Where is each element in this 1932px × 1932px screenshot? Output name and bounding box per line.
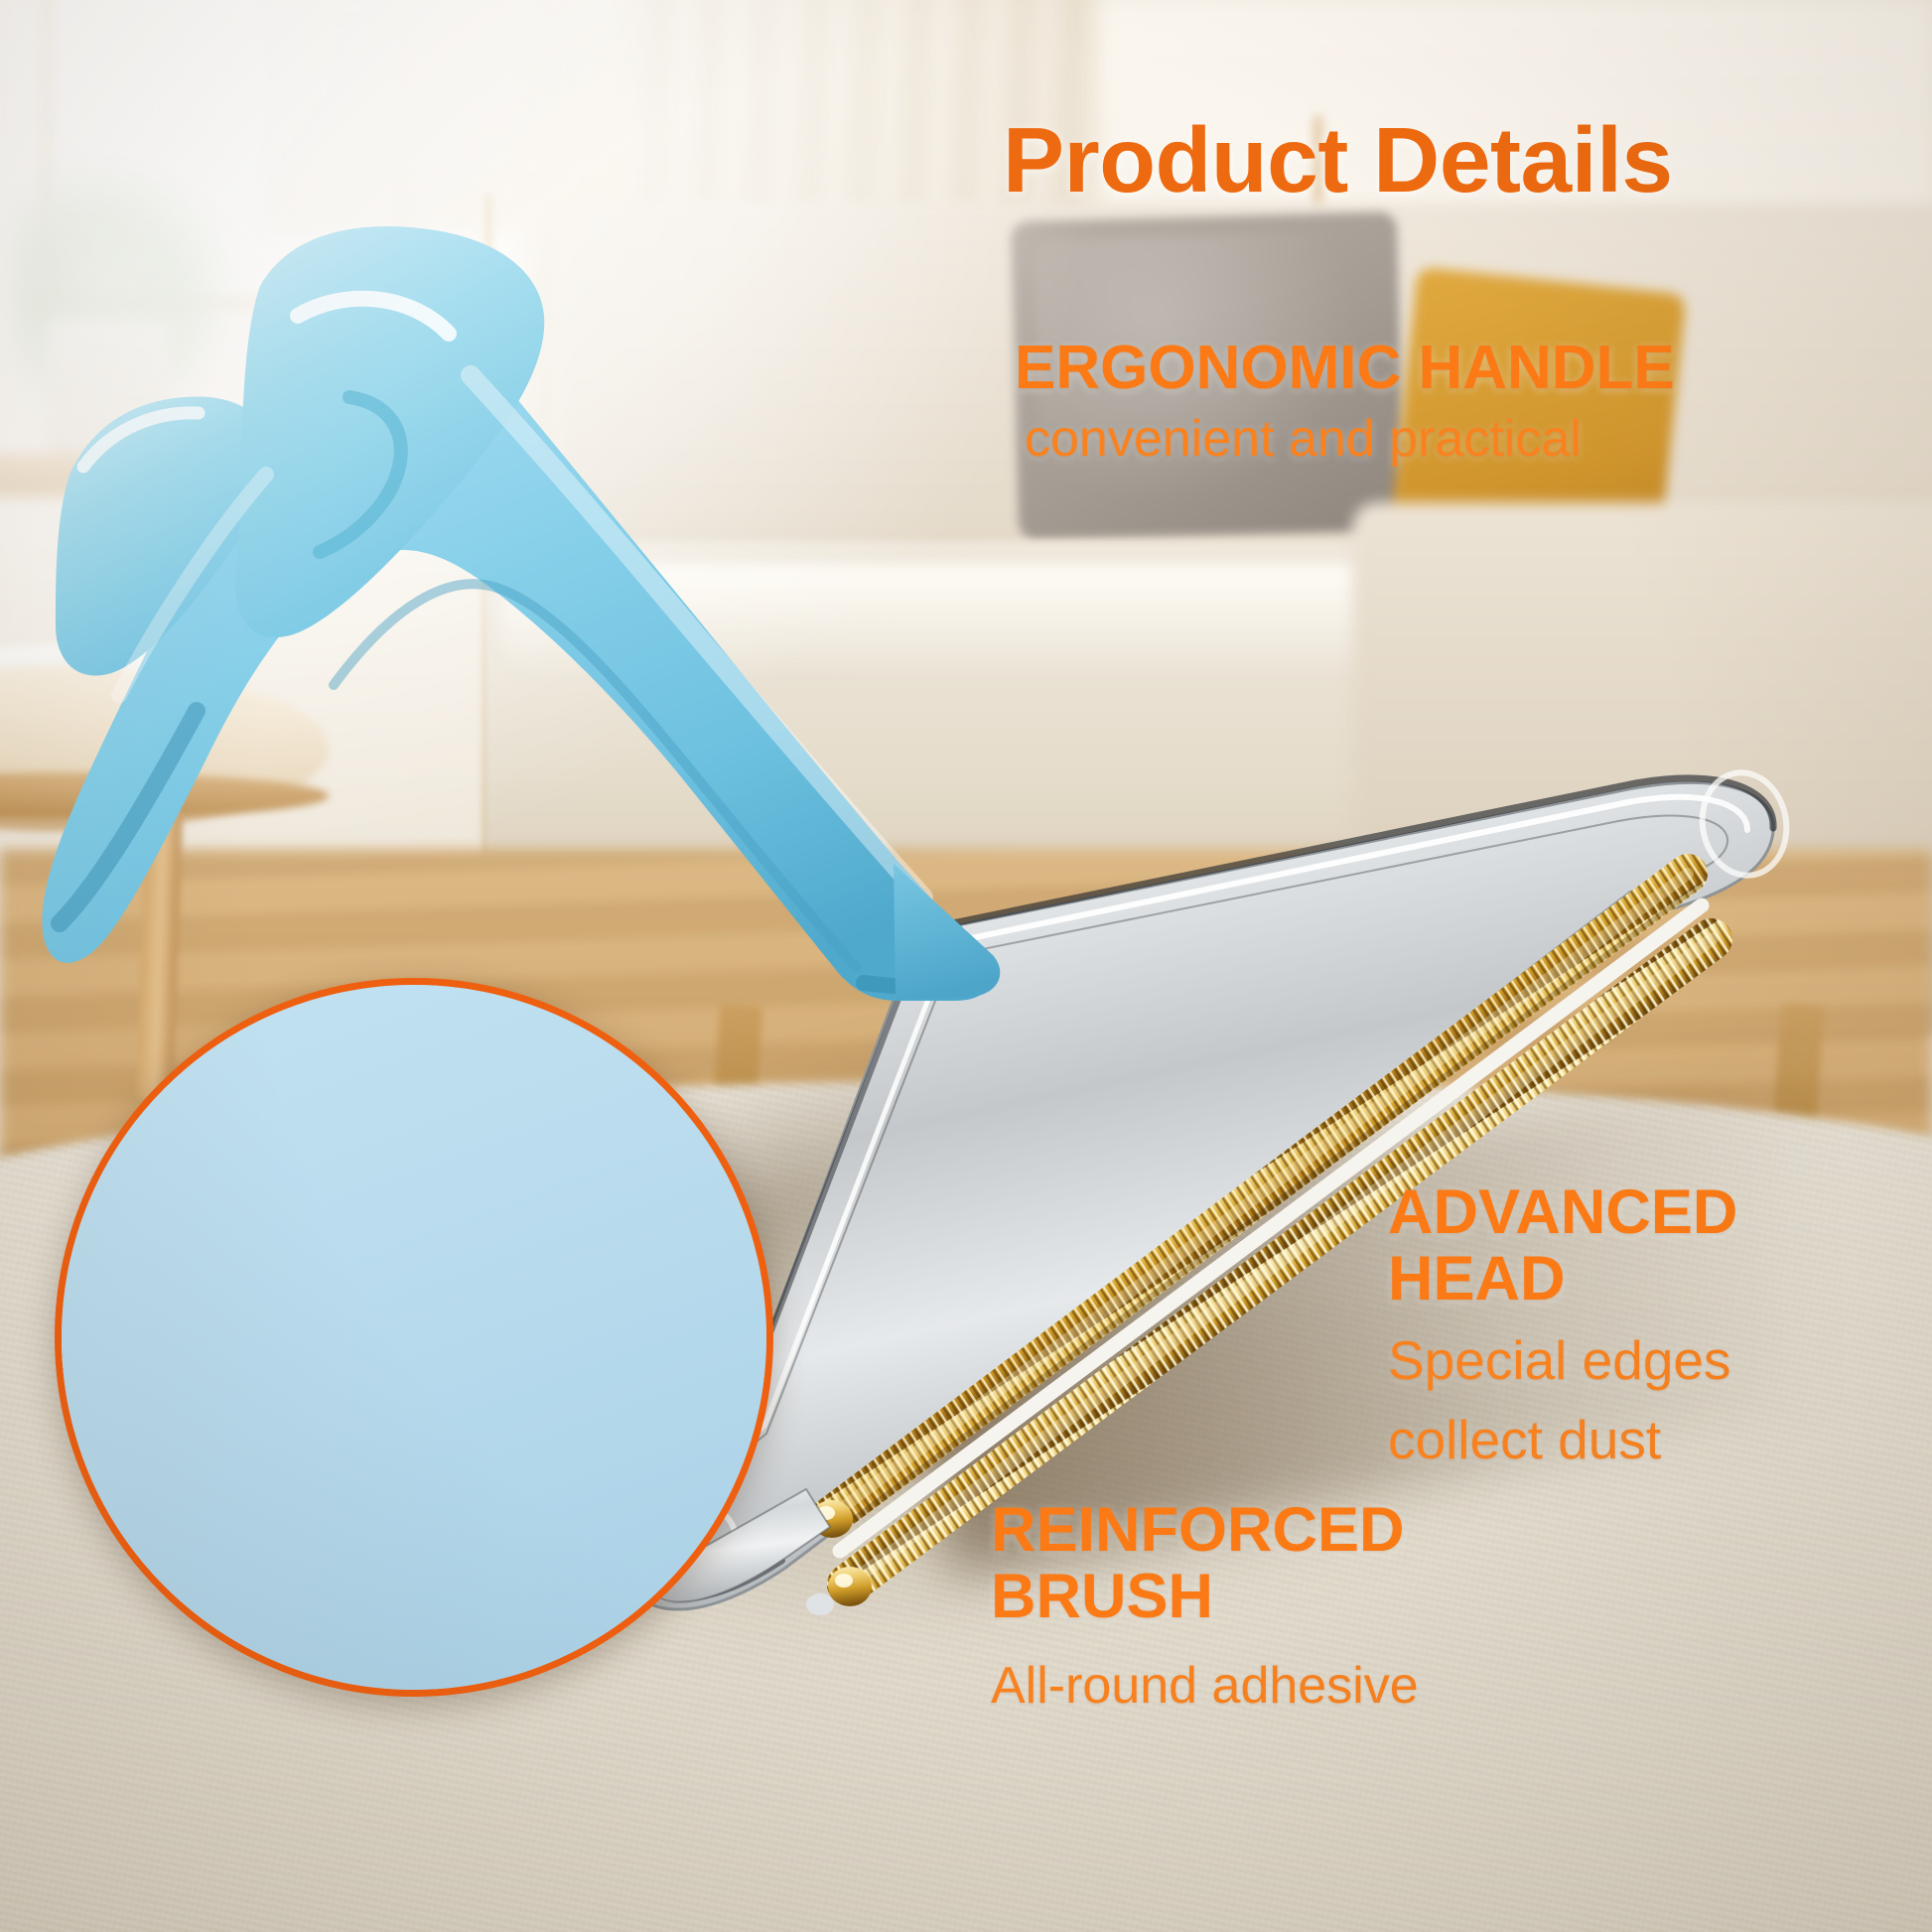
feature-heading-line1: REINFORCED	[991, 1497, 1606, 1564]
product-photo	[0, 0, 1932, 1932]
feature-subtitle: convenient and practical	[1025, 409, 1888, 470]
feature-heading-line2: BRUSH	[991, 1564, 1606, 1630]
feature-reinforced-brush: REINFORCED BRUSH All-round adhesive	[991, 1497, 1606, 1717]
feature-ergonomic-handle: ERGONOMIC HANDLE convenient and practica…	[1015, 336, 1888, 470]
page-title: Product Details	[1003, 114, 1896, 207]
brush-tip-closeup-inset	[55, 978, 773, 1697]
feature-subtitle: All-round adhesive	[991, 1656, 1606, 1717]
inset-background	[62, 985, 766, 1690]
feature-heading-line2: HEAD	[1388, 1246, 1924, 1312]
feature-heading: ERGONOMIC HANDLE	[1015, 336, 1888, 401]
feature-heading-line1: ADVANCED	[1388, 1179, 1924, 1246]
feature-subtitle-line2: collect dust	[1388, 1408, 1924, 1472]
feature-subtitle-line1: Special edges	[1388, 1328, 1924, 1393]
feature-advanced-head: ADVANCED HEAD Special edges collect dust	[1388, 1179, 1924, 1472]
handle-tip	[894, 864, 1000, 999]
product-detail-image: Product Details ERGONOMIC HANDLE conveni…	[0, 0, 1932, 1932]
